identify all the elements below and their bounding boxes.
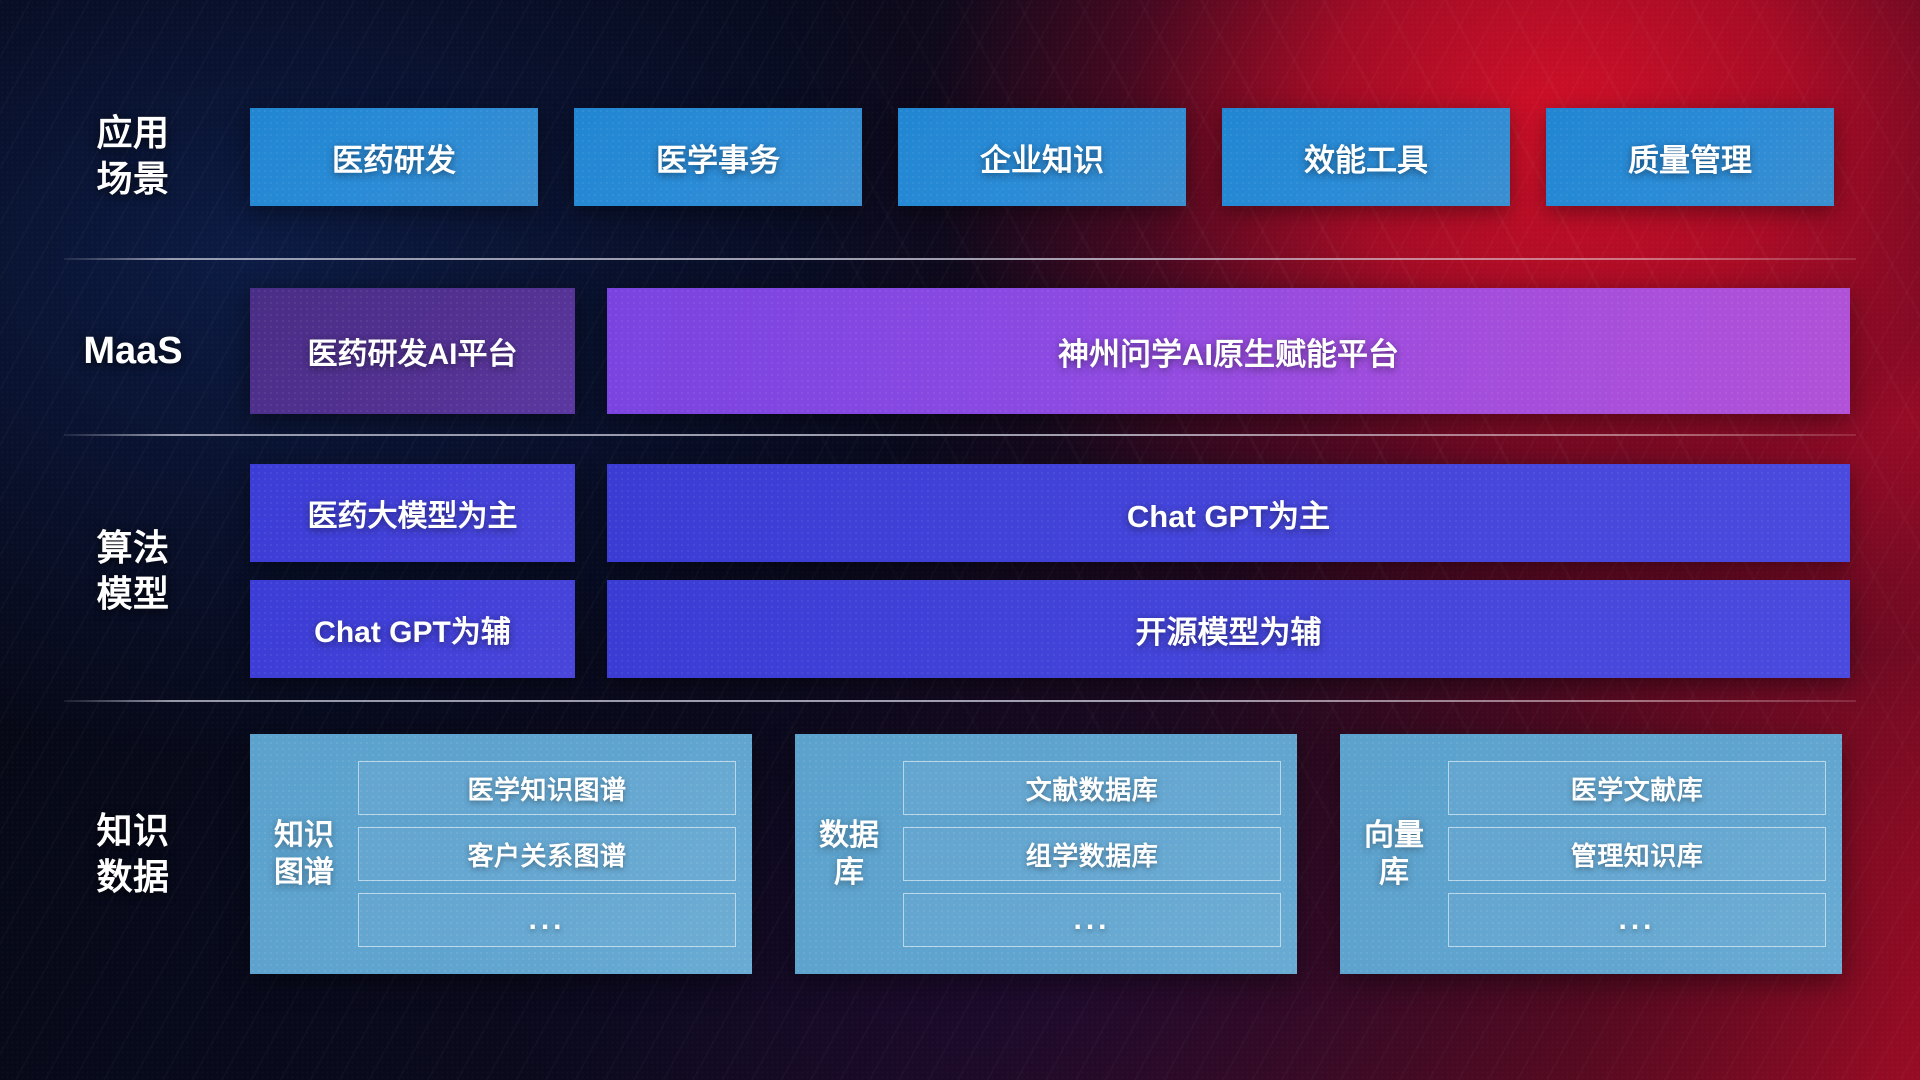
divider-applications-maas (64, 258, 1856, 260)
maas-left-label: 医药研发AI平台 (308, 329, 518, 373)
knowledge-card-vector-store[interactable]: 向量库 医学文献库 管理知识库 ... (1340, 734, 1842, 974)
knowledge-card-items: 医学文献库 管理知识库 ... (1430, 761, 1826, 947)
diagram-canvas: 应用 场景 医药研发 医学事务 企业知识 效能工具 质量管理 MaaS 医药研发… (0, 0, 1920, 1080)
knowledge-card-database[interactable]: 数据库 文献数据库 组学数据库 ... (795, 734, 1297, 974)
row-algorithm-secondary: Chat GPT为辅 开源模型为辅 (250, 580, 1850, 678)
knowledge-card-items: 医学知识图谱 客户关系图谱 ... (340, 761, 736, 947)
knowledge-card-title: 向量库 (1358, 817, 1430, 891)
app-box-label: 质量管理 (1628, 135, 1752, 180)
algorithm-left-box-secondary[interactable]: Chat GPT为辅 (250, 580, 575, 678)
maas-right-label: 神州问学AI原生赋能平台 (1058, 329, 1399, 374)
row-label-knowledge: 知识 数据 (72, 734, 194, 974)
algorithm-right-label: 开源模型为辅 (1136, 607, 1322, 652)
row-label-applications: 应用 场景 (72, 106, 194, 206)
app-box-label: 医药研发 (332, 135, 456, 180)
app-box-1[interactable]: 医学事务 (574, 108, 862, 206)
maas-right-box[interactable]: 神州问学AI原生赋能平台 (607, 288, 1850, 414)
knowledge-item-more[interactable]: ... (358, 893, 736, 947)
app-box-2[interactable]: 企业知识 (898, 108, 1186, 206)
row-label-maas: MaaS (72, 288, 194, 414)
divider-maas-algorithm (64, 434, 1856, 436)
knowledge-item-more[interactable]: ... (903, 893, 1281, 947)
row-knowledge: 知识图谱 医学知识图谱 客户关系图谱 ... 数据库 文献数据库 组学数据库 .… (250, 734, 1842, 974)
knowledge-card-items: 文献数据库 组学数据库 ... (885, 761, 1281, 947)
knowledge-card-title: 知识图谱 (268, 817, 340, 891)
algorithm-left-label: Chat GPT为辅 (314, 607, 511, 651)
maas-left-box[interactable]: 医药研发AI平台 (250, 288, 575, 414)
row-maas: 医药研发AI平台 神州问学AI原生赋能平台 (250, 288, 1850, 414)
knowledge-item[interactable]: 医学知识图谱 (358, 761, 736, 815)
knowledge-item[interactable]: 文献数据库 (903, 761, 1281, 815)
algorithm-right-box-primary[interactable]: Chat GPT为主 (607, 464, 1850, 562)
knowledge-item-more[interactable]: ... (1448, 893, 1826, 947)
app-box-label: 医学事务 (656, 135, 780, 180)
divider-algorithm-knowledge (64, 700, 1856, 702)
app-box-4[interactable]: 质量管理 (1546, 108, 1834, 206)
algorithm-left-label: 医药大模型为主 (308, 491, 518, 535)
app-box-label: 企业知识 (980, 135, 1104, 180)
knowledge-card-knowledge-graph[interactable]: 知识图谱 医学知识图谱 客户关系图谱 ... (250, 734, 752, 974)
row-algorithm-primary: 医药大模型为主 Chat GPT为主 (250, 464, 1850, 562)
app-box-3[interactable]: 效能工具 (1222, 108, 1510, 206)
row-applications: 医药研发 医学事务 企业知识 效能工具 质量管理 (250, 108, 1834, 206)
algorithm-right-label: Chat GPT为主 (1127, 491, 1330, 536)
app-box-0[interactable]: 医药研发 (250, 108, 538, 206)
knowledge-item[interactable]: 管理知识库 (1448, 827, 1826, 881)
algorithm-right-box-secondary[interactable]: 开源模型为辅 (607, 580, 1850, 678)
knowledge-item[interactable]: 客户关系图谱 (358, 827, 736, 881)
knowledge-card-title: 数据库 (813, 817, 885, 891)
app-box-label: 效能工具 (1304, 135, 1428, 180)
algorithm-left-box-primary[interactable]: 医药大模型为主 (250, 464, 575, 562)
row-label-algorithm: 算法 模型 (72, 464, 194, 678)
knowledge-item[interactable]: 组学数据库 (903, 827, 1281, 881)
knowledge-item[interactable]: 医学文献库 (1448, 761, 1826, 815)
